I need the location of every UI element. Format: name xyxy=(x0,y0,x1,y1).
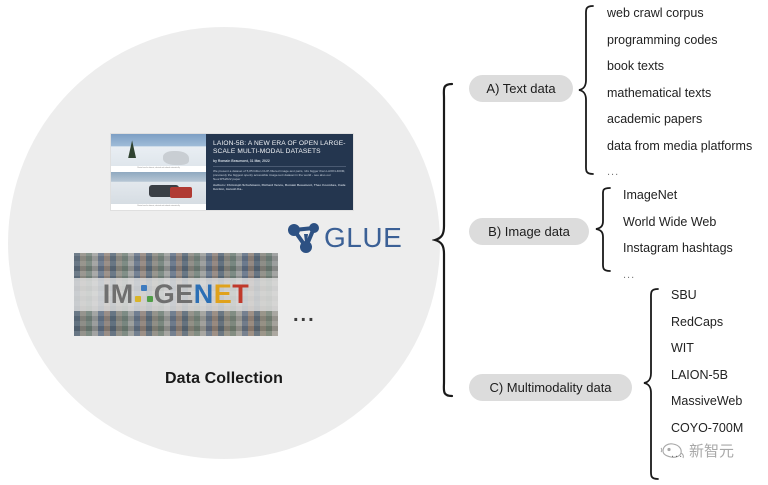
laion-banner-body: LAION-5B: A NEW ERA OF OPEN LARGE-SCALE … xyxy=(206,134,353,210)
brace-text-data xyxy=(576,2,598,178)
list-item[interactable]: mathematical texts xyxy=(607,80,752,107)
collection-ellipsis: ... xyxy=(293,305,316,325)
list-item[interactable]: web crawl corpus xyxy=(607,0,752,27)
laion-photo-skiers xyxy=(111,172,206,204)
diagram-canvas: Photos from the dataset, selected and or… xyxy=(0,0,768,485)
list-item[interactable]: COYO-700M xyxy=(671,415,743,442)
laion-banner-title: LAION-5B: A NEW ERA OF OPEN LARGE-SCALE … xyxy=(213,140,346,157)
imagenet-dot-amber xyxy=(135,296,141,302)
imagenet-part-im: IM xyxy=(103,281,134,308)
list-item[interactable]: ImageNet xyxy=(623,182,733,209)
category-pill-text-data[interactable]: A) Text data xyxy=(469,75,573,102)
laion-photo-snow-trees xyxy=(111,134,206,166)
imagenet-part-t: T xyxy=(232,281,249,308)
glue-logo: GLUE xyxy=(287,222,402,254)
imagenet-part-ge: GE xyxy=(154,281,194,308)
list-item[interactable]: LAION-5B xyxy=(671,362,743,389)
main-brace xyxy=(432,80,458,400)
glue-nodes-icon xyxy=(287,222,321,254)
category-pill-multimodality-data[interactable]: C) Multimodality data xyxy=(469,374,632,401)
watermark-text: 新智元 xyxy=(689,440,734,461)
list-item[interactable]: academic papers xyxy=(607,106,752,133)
laion-banner-paragraph: We present a dataset of 5,85 billion CLI… xyxy=(213,169,346,182)
imagenet-dot-blue xyxy=(141,285,147,291)
list-item[interactable]: programming codes xyxy=(607,27,752,54)
imagenet-part-n: N xyxy=(194,281,214,308)
watermark: 新智元 xyxy=(660,440,734,461)
brace-image-data xyxy=(593,185,615,275)
list-item[interactable]: book texts xyxy=(607,53,752,80)
imagenet-wordmark: IM GE N E T xyxy=(74,280,278,308)
laion-banner-divider xyxy=(213,166,346,167)
laion-5b-banner: Photos from the dataset, selected and or… xyxy=(111,134,353,210)
laion-photo-caption-bottom: Photos from the dataset, selected and or… xyxy=(111,204,206,210)
list-item[interactable]: RedCaps xyxy=(671,309,743,336)
imagenet-part-e: E xyxy=(214,281,233,308)
imagenet-logo-banner: IM GE N E T xyxy=(74,253,278,336)
list-item[interactable]: MassiveWeb xyxy=(671,388,743,415)
list-item[interactable]: World Wide Web xyxy=(623,209,733,236)
list-item[interactable]: SBU xyxy=(671,282,743,309)
whale-logo-icon xyxy=(660,442,686,459)
image-data-item-list: ImageNet World Wide Web Instagram hashta… xyxy=(623,182,733,288)
text-data-item-list: web crawl corpus programming codes book … xyxy=(607,0,752,186)
list-item[interactable]: data from media platforms xyxy=(607,133,752,160)
category-pill-image-data[interactable]: B) Image data xyxy=(469,218,589,245)
laion-banner-authors: Authors: Christoph Schuhmann, Richard Ve… xyxy=(213,183,346,192)
data-collection-title: Data Collection xyxy=(8,370,440,388)
list-item[interactable]: WIT xyxy=(671,335,743,362)
laion-photo-strip: Photos from the dataset, selected and or… xyxy=(111,134,206,210)
imagenet-letter-a-dots xyxy=(134,283,154,305)
imagenet-dot-green xyxy=(147,296,153,302)
glue-wordmark: GLUE xyxy=(324,224,402,252)
list-item[interactable]: Instagram hashtags xyxy=(623,235,733,262)
laion-banner-byline: by Romain Beaumont, 31 Mar, 2022 xyxy=(213,158,346,164)
